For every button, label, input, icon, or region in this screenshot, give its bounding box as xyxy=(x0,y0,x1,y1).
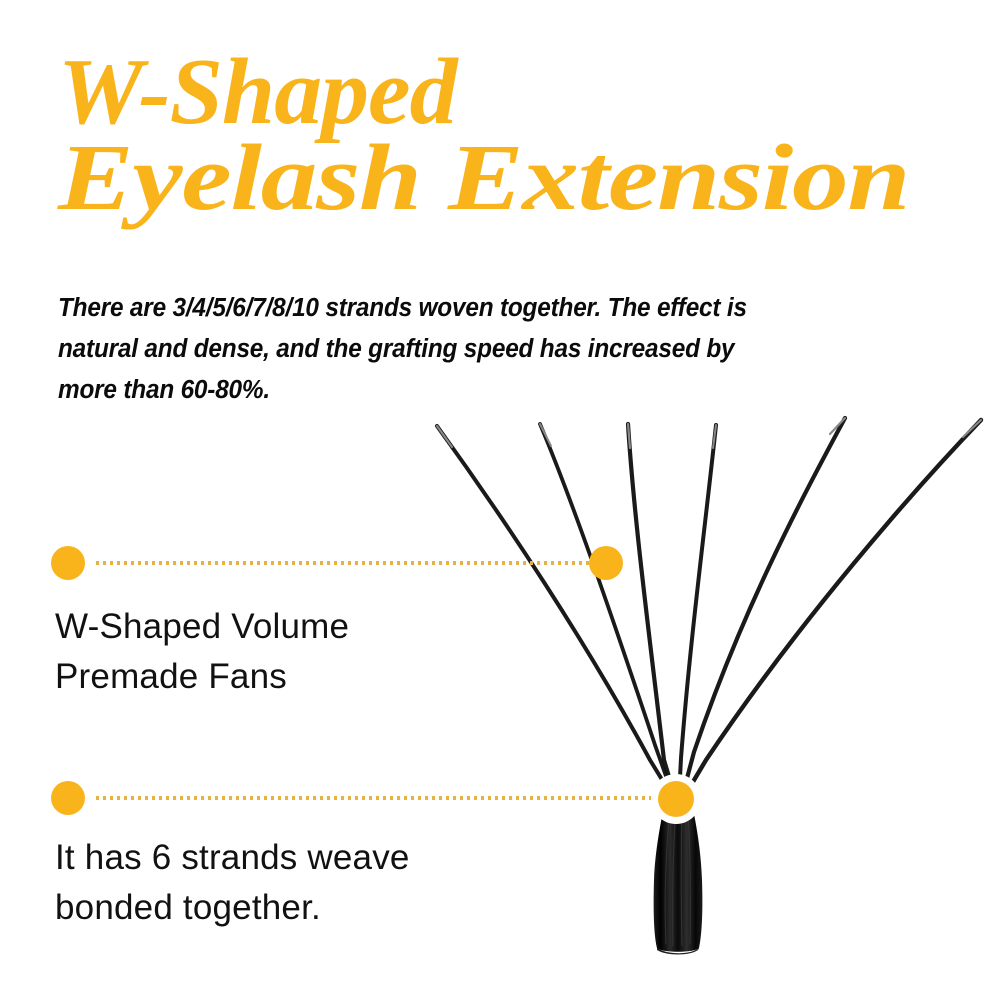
lash-bonded-base xyxy=(654,800,703,955)
page-title-line-1: W-Shaped xyxy=(58,46,976,138)
page-title-line-2: Eyelash Extension xyxy=(58,132,1000,224)
dotted-leader-line-2 xyxy=(96,796,666,800)
infographic-page: W-Shaped Eyelash Extension There are 3/4… xyxy=(0,0,1000,1000)
lash-strands xyxy=(437,418,981,797)
dotted-leader-line-1 xyxy=(96,561,596,565)
callout-2-label: It has 6 strands weave bonded together. xyxy=(55,833,485,933)
bullet-dot-icon-left-1 xyxy=(51,546,85,580)
bullet-dot-icon-left-2 xyxy=(51,781,85,815)
bullet-dot-icon-right-1 xyxy=(589,546,623,580)
intro-paragraph: There are 3/4/5/6/7/8/10 strands woven t… xyxy=(58,288,765,411)
callout-1-label: W-Shaped Volume Premade Fans xyxy=(55,602,475,702)
page-title: W-Shaped Eyelash Extension xyxy=(58,46,958,224)
bullet-dot-icon-right-2 xyxy=(658,781,694,817)
